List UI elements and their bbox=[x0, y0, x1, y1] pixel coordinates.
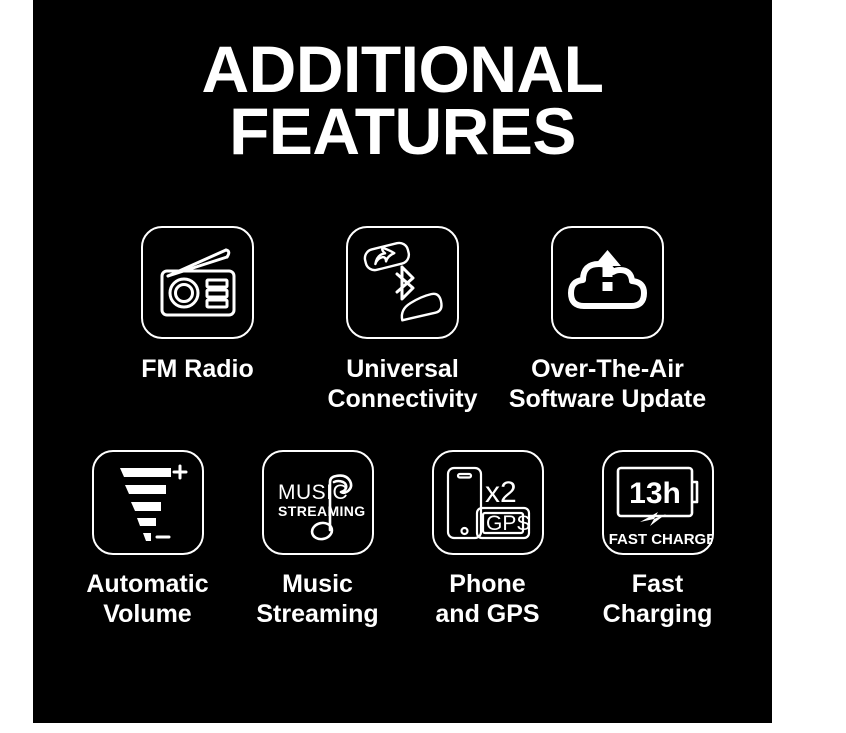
feature-row-2: Automatic Volume MUSIC STREAMING Music S… bbox=[33, 450, 772, 629]
fm-radio-icon bbox=[143, 228, 252, 337]
automatic-volume-tile bbox=[92, 450, 204, 555]
feature-label-ota-update: Over-The-Air Software Update bbox=[509, 354, 706, 414]
battery-fast-charge-icon: 13h + FAST CHARGE bbox=[604, 452, 712, 553]
phone-gps-multiplier: x2 bbox=[485, 476, 517, 509]
ota-update-tile bbox=[551, 226, 664, 339]
feature-item-ota-update: Over-The-Air Software Update bbox=[505, 226, 710, 414]
music-streaming-line-1: MUSIC bbox=[278, 481, 348, 504]
cloud-upload-icon bbox=[553, 228, 662, 337]
feature-item-fast-charging: 13h + FAST CHARGE Fast Charging bbox=[573, 450, 743, 629]
phone-gps-tile: x2 GPS bbox=[432, 450, 544, 555]
battery-hours-label: 13h bbox=[629, 477, 681, 510]
feature-item-automatic-volume: Automatic Volume bbox=[63, 450, 233, 629]
phone-gps-device-label: GPS bbox=[486, 512, 530, 535]
feature-item-music-streaming: MUSIC STREAMING Music Streaming bbox=[233, 450, 403, 629]
music-streaming-note-icon: MUSIC STREAMING bbox=[264, 452, 372, 553]
music-streaming-line-2: STREAMING bbox=[278, 503, 366, 519]
lightning-bolt-icon bbox=[640, 512, 666, 526]
feature-item-phone-gps: x2 GPS Phone and GPS bbox=[403, 450, 573, 629]
fast-charging-tile: 13h + FAST CHARGE bbox=[602, 450, 714, 555]
automatic-volume-icon bbox=[94, 452, 202, 553]
page-title-line-1: ADDITIONAL bbox=[33, 38, 772, 100]
additional-features-panel: ADDITIONAL FEATURES bbox=[33, 0, 772, 723]
feature-label-music-streaming: Music Streaming bbox=[256, 569, 378, 629]
universal-connectivity-bluetooth-icon bbox=[348, 228, 457, 337]
feature-item-universal-connectivity: Universal Connectivity bbox=[300, 226, 505, 414]
phone-gps-icon: x2 GPS bbox=[434, 452, 542, 553]
fm-radio-tile bbox=[141, 226, 254, 339]
music-streaming-tile: MUSIC STREAMING bbox=[262, 450, 374, 555]
fast-charge-note: + FAST CHARGE bbox=[604, 531, 712, 548]
feature-label-phone-gps: Phone and GPS bbox=[435, 569, 539, 629]
universal-connectivity-tile bbox=[346, 226, 459, 339]
feature-label-automatic-volume: Automatic Volume bbox=[86, 569, 208, 629]
feature-item-fm-radio: FM Radio bbox=[95, 226, 300, 414]
feature-label-universal-connectivity: Universal Connectivity bbox=[327, 354, 477, 414]
page-title-line-2: FEATURES bbox=[33, 100, 772, 162]
feature-row-1: FM Radio bbox=[33, 226, 772, 414]
feature-label-fm-radio: FM Radio bbox=[141, 354, 254, 384]
feature-label-fast-charging: Fast Charging bbox=[603, 569, 713, 629]
page-title: ADDITIONAL FEATURES bbox=[33, 38, 772, 162]
